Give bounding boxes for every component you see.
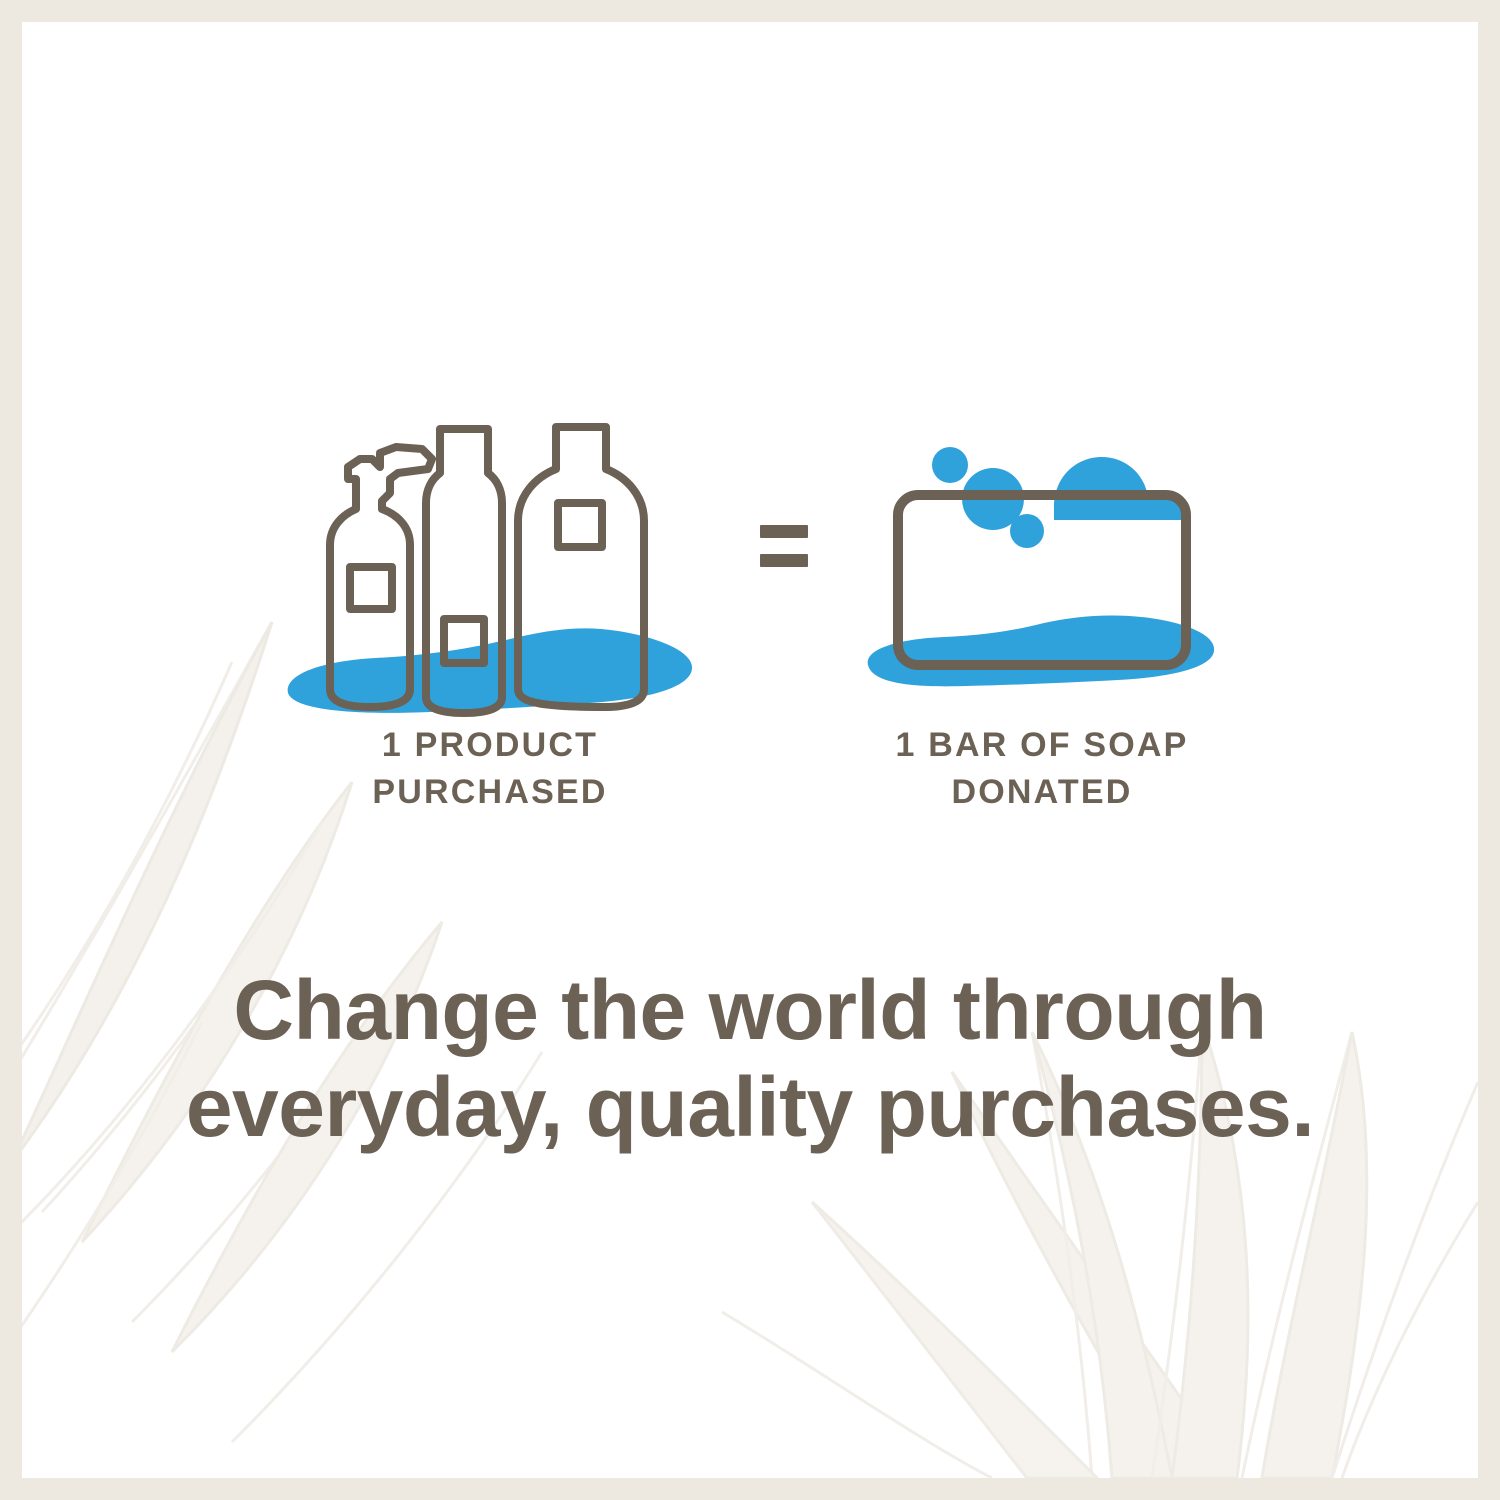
caption-left: 1 PRODUCT PURCHASED: [270, 722, 710, 816]
equals-bar-top: [760, 525, 808, 538]
headline-line2: everyday, quality purchases.: [82, 1059, 1418, 1156]
caption-right-line1: 1 BAR OF SOAP: [852, 722, 1232, 769]
purchase-donation-infographic: [22, 417, 1478, 747]
caption-right-line2: DONATED: [852, 769, 1232, 816]
background-leaves-decoration: [22, 22, 1478, 1478]
headline: Change the world through everyday, quali…: [82, 962, 1418, 1157]
caption-left-line1: 1 PRODUCT: [270, 722, 710, 769]
equals-bar-bottom: [760, 554, 808, 567]
headline-line1: Change the world through: [82, 962, 1418, 1059]
promo-image: 1 PRODUCT PURCHASED 1 BAR OF SOAP DONATE…: [0, 0, 1500, 1500]
caption-right: 1 BAR OF SOAP DONATED: [852, 722, 1232, 816]
soap-bar-icon: [862, 417, 1222, 747]
water-puddle: [868, 616, 1214, 687]
product-bottles-icon: [280, 417, 700, 747]
image-canvas: 1 PRODUCT PURCHASED 1 BAR OF SOAP DONATE…: [22, 22, 1478, 1478]
equals-sign: [740, 502, 830, 582]
caption-left-line2: PURCHASED: [270, 769, 710, 816]
